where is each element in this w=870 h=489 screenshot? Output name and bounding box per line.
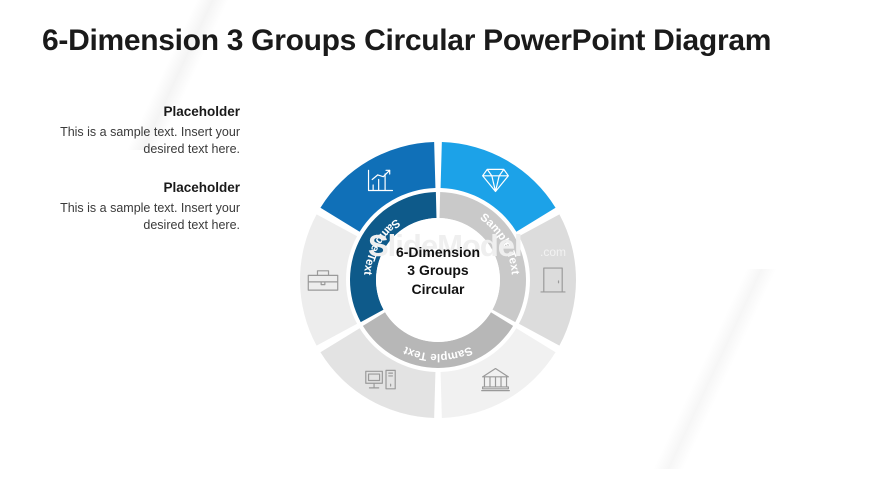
- placeholder-heading: Placeholder: [55, 180, 240, 195]
- donut-chart-svg: Sample TextSample TextSample Text: [298, 140, 578, 420]
- placeholder-body: This is a sample text. Insert your desir…: [55, 200, 240, 234]
- placeholder-body: This is a sample text. Insert your desir…: [55, 124, 240, 158]
- placeholder-block-1: Placeholder This is a sample text. Inser…: [55, 104, 240, 158]
- circular-diagram: Sample TextSample TextSample Text: [298, 140, 578, 420]
- placeholder-block-2: Placeholder This is a sample text. Inser…: [55, 180, 240, 234]
- slide-canvas: 6-Dimension 3 Groups Circular PowerPoint…: [0, 0, 870, 489]
- placeholder-heading: Placeholder: [55, 104, 240, 119]
- placeholder-text-group: Placeholder This is a sample text. Inser…: [55, 104, 240, 256]
- page-title: 6-Dimension 3 Groups Circular PowerPoint…: [42, 24, 802, 58]
- center-disc: [376, 218, 500, 342]
- outer-segment-2[interactable]: [519, 214, 576, 345]
